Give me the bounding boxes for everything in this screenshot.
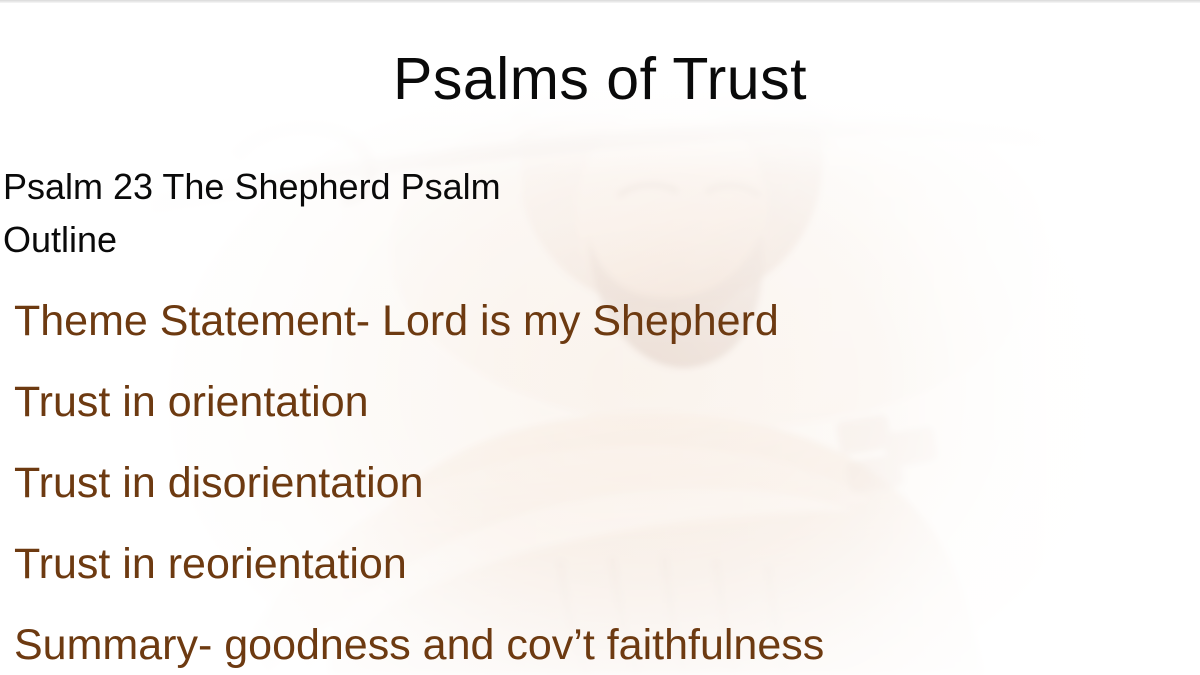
subheading-line-1: Psalm 23 The Shepherd Psalm — [3, 166, 501, 208]
outline-item-trust-in-reorientation: Trust in reorientation — [14, 539, 407, 589]
outline-item-trust-in-disorientation: Trust in disorientation — [14, 458, 424, 508]
outline-item-summary: Summary- goodness and cov’t faithfulness — [14, 620, 824, 670]
outline-item-theme-statement: Theme Statement- Lord is my Shepherd — [14, 296, 779, 346]
slide-content: Psalms of Trust Psalm 23 The Shepherd Ps… — [0, 0, 1200, 675]
outline-item-trust-in-orientation: Trust in orientation — [14, 377, 369, 427]
presentation-slide: Psalms of Trust Psalm 23 The Shepherd Ps… — [0, 0, 1200, 675]
top-edge-band — [0, 0, 1200, 3]
slide-title: Psalms of Trust — [0, 48, 1200, 110]
subheading-line-2: Outline — [3, 219, 117, 261]
